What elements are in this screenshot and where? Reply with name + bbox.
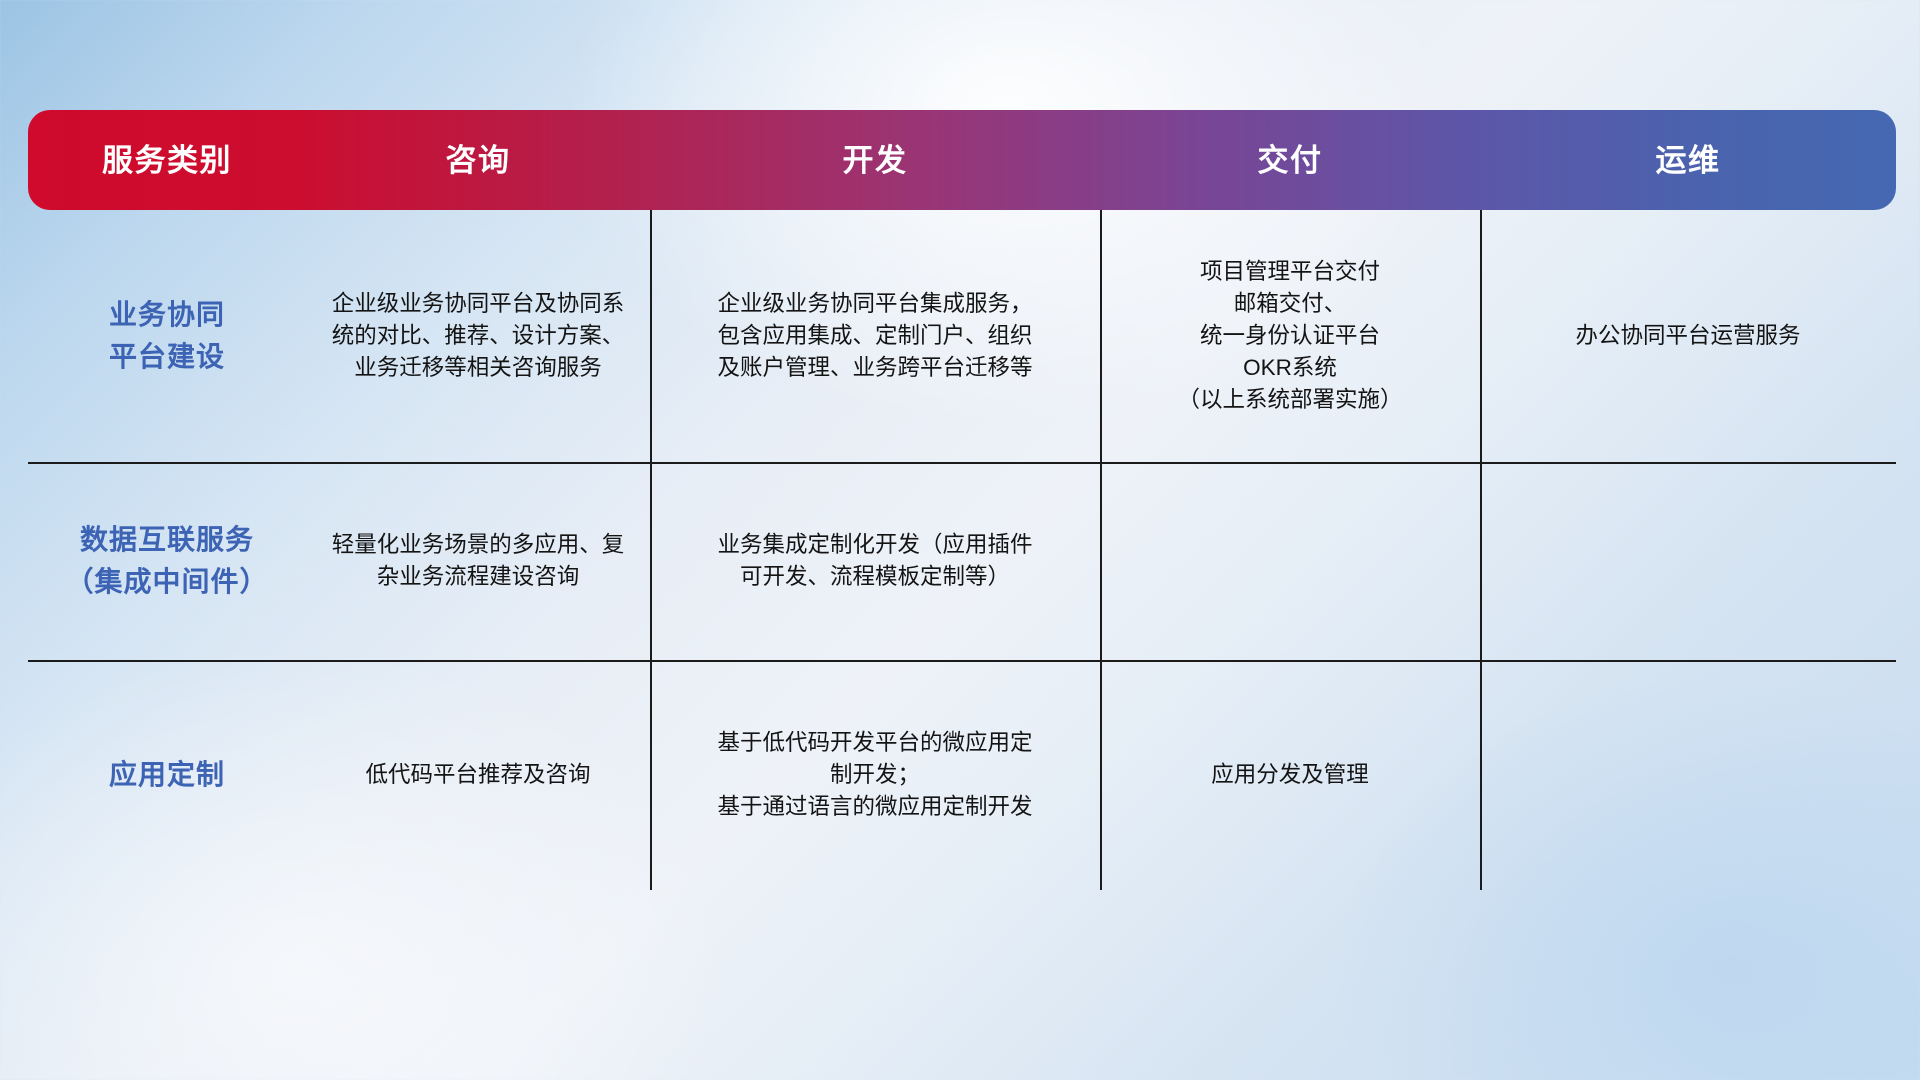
column-header-operations: 运维 [1480, 145, 1896, 176]
cell-delivery: 应用分发及管理 [1100, 660, 1480, 890]
cell-development: 业务集成定制化开发（应用插件 可开发、流程模板定制等） [650, 462, 1100, 660]
cell-consulting: 企业级业务协同平台及协同系 统的对比、推荐、设计方案、 业务迁移等相关咨询服务 [306, 210, 650, 462]
column-header-category: 服务类别 [28, 145, 306, 176]
table-row: 应用定制 低代码平台推荐及咨询 基于低代码开发平台的微应用定 制开发； 基于通过… [28, 660, 1896, 890]
row-label: 数据互联服务 （集成中间件） [28, 462, 306, 660]
column-header-consulting: 咨询 [306, 145, 650, 176]
cell-operations [1480, 660, 1896, 890]
cell-development: 企业级业务协同平台集成服务， 包含应用集成、定制门户、组织 及账户管理、业务跨平… [650, 210, 1100, 462]
service-matrix-table: 服务类别 咨询 开发 交付 运维 业务协同 平台建设 企业级业务协同平台及协同系… [28, 110, 1896, 950]
row-label: 应用定制 [28, 660, 306, 890]
column-header-delivery: 交付 [1100, 145, 1480, 176]
cell-consulting: 低代码平台推荐及咨询 [306, 660, 650, 890]
cell-development: 基于低代码开发平台的微应用定 制开发； 基于通过语言的微应用定制开发 [650, 660, 1100, 890]
cell-consulting: 轻量化业务场景的多应用、复 杂业务流程建设咨询 [306, 462, 650, 660]
cell-delivery [1100, 462, 1480, 660]
cell-operations: 办公协同平台运营服务 [1480, 210, 1896, 462]
cell-operations [1480, 462, 1896, 660]
cell-delivery: 项目管理平台交付 邮箱交付、 统一身份认证平台 OKR系统 （以上系统部署实施） [1100, 210, 1480, 462]
column-header-development: 开发 [650, 145, 1100, 176]
table-row: 业务协同 平台建设 企业级业务协同平台及协同系 统的对比、推荐、设计方案、 业务… [28, 210, 1896, 462]
row-label: 业务协同 平台建设 [28, 210, 306, 462]
table-row: 数据互联服务 （集成中间件） 轻量化业务场景的多应用、复 杂业务流程建设咨询 业… [28, 462, 1896, 660]
table-header-row: 服务类别 咨询 开发 交付 运维 [28, 110, 1896, 210]
table-body: 业务协同 平台建设 企业级业务协同平台及协同系 统的对比、推荐、设计方案、 业务… [28, 210, 1896, 890]
